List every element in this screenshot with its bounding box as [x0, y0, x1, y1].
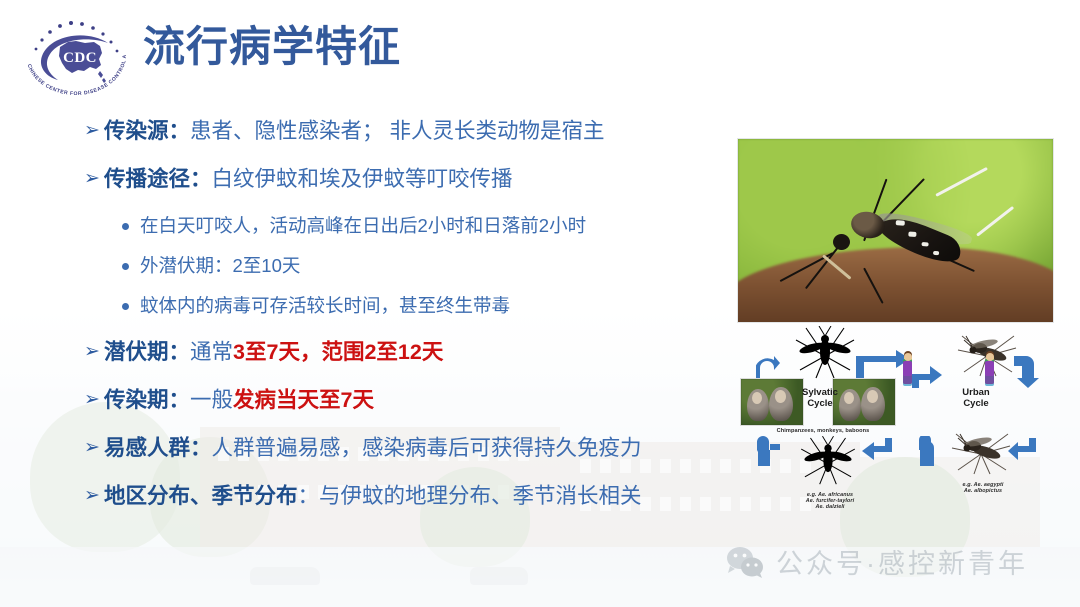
bullet-geographic-seasonal-distribution: ➢地区分布、季节分布：与伊蚊的地理分布、季节消长相关: [84, 483, 724, 510]
sub-bullet-text: 外潜伏期：2至10天: [140, 255, 300, 276]
dot-bullet-icon: [122, 223, 129, 230]
mosquito-silhouette-icon: [786, 326, 864, 382]
bullet-transmission-source: ➢传染源：患者、隐性感染者； 非人灵长类动物是宿主: [84, 118, 724, 145]
arrow-right-up-icon: [910, 362, 944, 388]
urban-vector-caption: e.g. Ae. aegypti Ae. albopictus: [928, 482, 1038, 494]
arrow-bullet-icon: ➢: [84, 388, 100, 413]
bullet-label: 传染源：: [104, 119, 190, 143]
sylvatic-vector-line3: Ae. dalzieli: [770, 504, 890, 510]
bullet-text: 人群普遍易感，感染病毒后可获得持久免疫力: [212, 436, 642, 460]
transmission-cycle-diagram: Sylvatic Cycle Chimpanzees, monkeys, bab…: [742, 332, 1054, 537]
page-title: 流行病学特征: [143, 22, 401, 72]
bullet-susceptible-population: ➢易感人群：人群普遍易感，感染病毒后可获得持久免疫力: [84, 435, 724, 462]
urban-vector-line2: Ae. albopictus: [928, 488, 1038, 494]
bullet-label: 易感人群：: [104, 436, 212, 460]
bullet-text: 白纹伊蚊和埃及伊蚊等叮咬传播: [212, 167, 513, 191]
arrow-bullet-icon: ➢: [84, 340, 100, 365]
sub-bullet-text: 在白天叮咬人，活动高峰在日出后2小时和日落前2小时: [140, 215, 586, 236]
bullet-text: ：与伊蚊的地理分布、季节消长相关: [298, 484, 642, 508]
urban-cycle-title: Urban Cycle: [954, 388, 998, 410]
mosquito-head: [833, 234, 850, 250]
person-figure: [984, 353, 995, 384]
sub-bullet-extrinsic-incubation: 外潜伏期：2至10天: [84, 254, 724, 278]
arrow-bullet-icon: ➢: [84, 484, 100, 509]
bullet-label: 地区分布、季节分布: [104, 484, 298, 508]
bullet-highlight: 发病当天至7天: [233, 388, 374, 412]
bullet-incubation-period: ➢潜伏期：通常3至7天，范围2至12天: [84, 339, 724, 366]
watermark-car: [470, 567, 528, 585]
dot-bullet-icon: [122, 303, 129, 310]
bullet-text: 一般: [190, 388, 233, 412]
wechat-icon: [726, 546, 764, 578]
bullet-label: 传播途径：: [104, 167, 212, 191]
watermark-car: [250, 567, 320, 585]
arrow-left-curve-icon: [1008, 436, 1038, 464]
arrow-bullet-icon: ➢: [84, 436, 100, 461]
arrow-bullet-icon: ➢: [84, 119, 100, 144]
person-figure: [902, 353, 913, 384]
arrow-bullet-icon: ➢: [84, 167, 100, 192]
arrow-left-down-icon: [862, 436, 894, 464]
watermark-ground: [0, 547, 1080, 607]
bullet-label: 潜伏期：: [104, 340, 190, 364]
wechat-watermark: 公众号·感控新青年: [726, 542, 1028, 581]
sub-bullet-list: 在白天叮咬人，活动高峰在日出后2小时和日落前2小时 外潜伏期：2至10天 蚊体内…: [84, 214, 724, 318]
dot-bullet-icon: [122, 263, 129, 270]
arrow-up-right-icon: [918, 436, 946, 466]
urban-title-line2: Cycle: [954, 399, 998, 410]
primate-photo: [740, 378, 804, 426]
aedes-albopictus-photo: [737, 138, 1054, 323]
primate-caption: Chimpanzees, monkeys, baboons: [748, 428, 898, 434]
sub-bullet-biting-time: 在白天叮咬人，活动高峰在日出后2小时和日落前2小时: [84, 214, 724, 238]
content-bullet-list: ➢传染源：患者、隐性感染者； 非人灵长类动物是宿主 ➢传播途径：白纹伊蚊和埃及伊…: [84, 118, 724, 509]
arrow-up-curve-icon: [756, 436, 782, 466]
bullet-transmission-route: ➢传播途径：白纹伊蚊和埃及伊蚊等叮咬传播: [84, 166, 724, 193]
mosquito-photo-icon: [948, 428, 1014, 476]
watermark-text: 公众号·感控新青年: [776, 542, 1028, 581]
sylvatic-cycle-title: Sylvatic Cycle: [796, 388, 844, 410]
slide-header: CHINESE CENTER FOR DISEASE CONTROL AND P…: [0, 0, 1080, 108]
arrow-down-right-icon: [1014, 354, 1040, 388]
china-cdc-logo: CHINESE CENTER FOR DISEASE CONTROL AND P…: [16, 9, 136, 101]
sylvatic-vector-caption: e.g. Ae. africanus Ae. furcifer-taylori …: [770, 492, 890, 511]
sub-bullet-text: 蚊体内的病毒可存活较长时间，甚至终生带毒: [140, 295, 510, 316]
bullet-highlight: 3至7天，范围2至12天: [233, 340, 443, 364]
slide-root: CHINESE CENTER FOR DISEASE CONTROL AND P…: [0, 0, 1080, 607]
bullet-infectious-period: ➢传染期：一般发病当天至7天: [84, 387, 724, 414]
mosquito-silhouette-icon: [792, 436, 864, 488]
svg-text:CDC: CDC: [63, 50, 97, 66]
sub-bullet-virus-survival: 蚊体内的病毒可存活较长时间，甚至终生带毒: [84, 294, 724, 318]
bullet-text: 患者、隐性感染者； 非人灵长类动物是宿主: [190, 119, 604, 143]
sylvatic-title-line2: Cycle: [796, 399, 844, 410]
bullet-label: 传染期：: [104, 388, 190, 412]
bullet-text: 通常: [190, 340, 233, 364]
